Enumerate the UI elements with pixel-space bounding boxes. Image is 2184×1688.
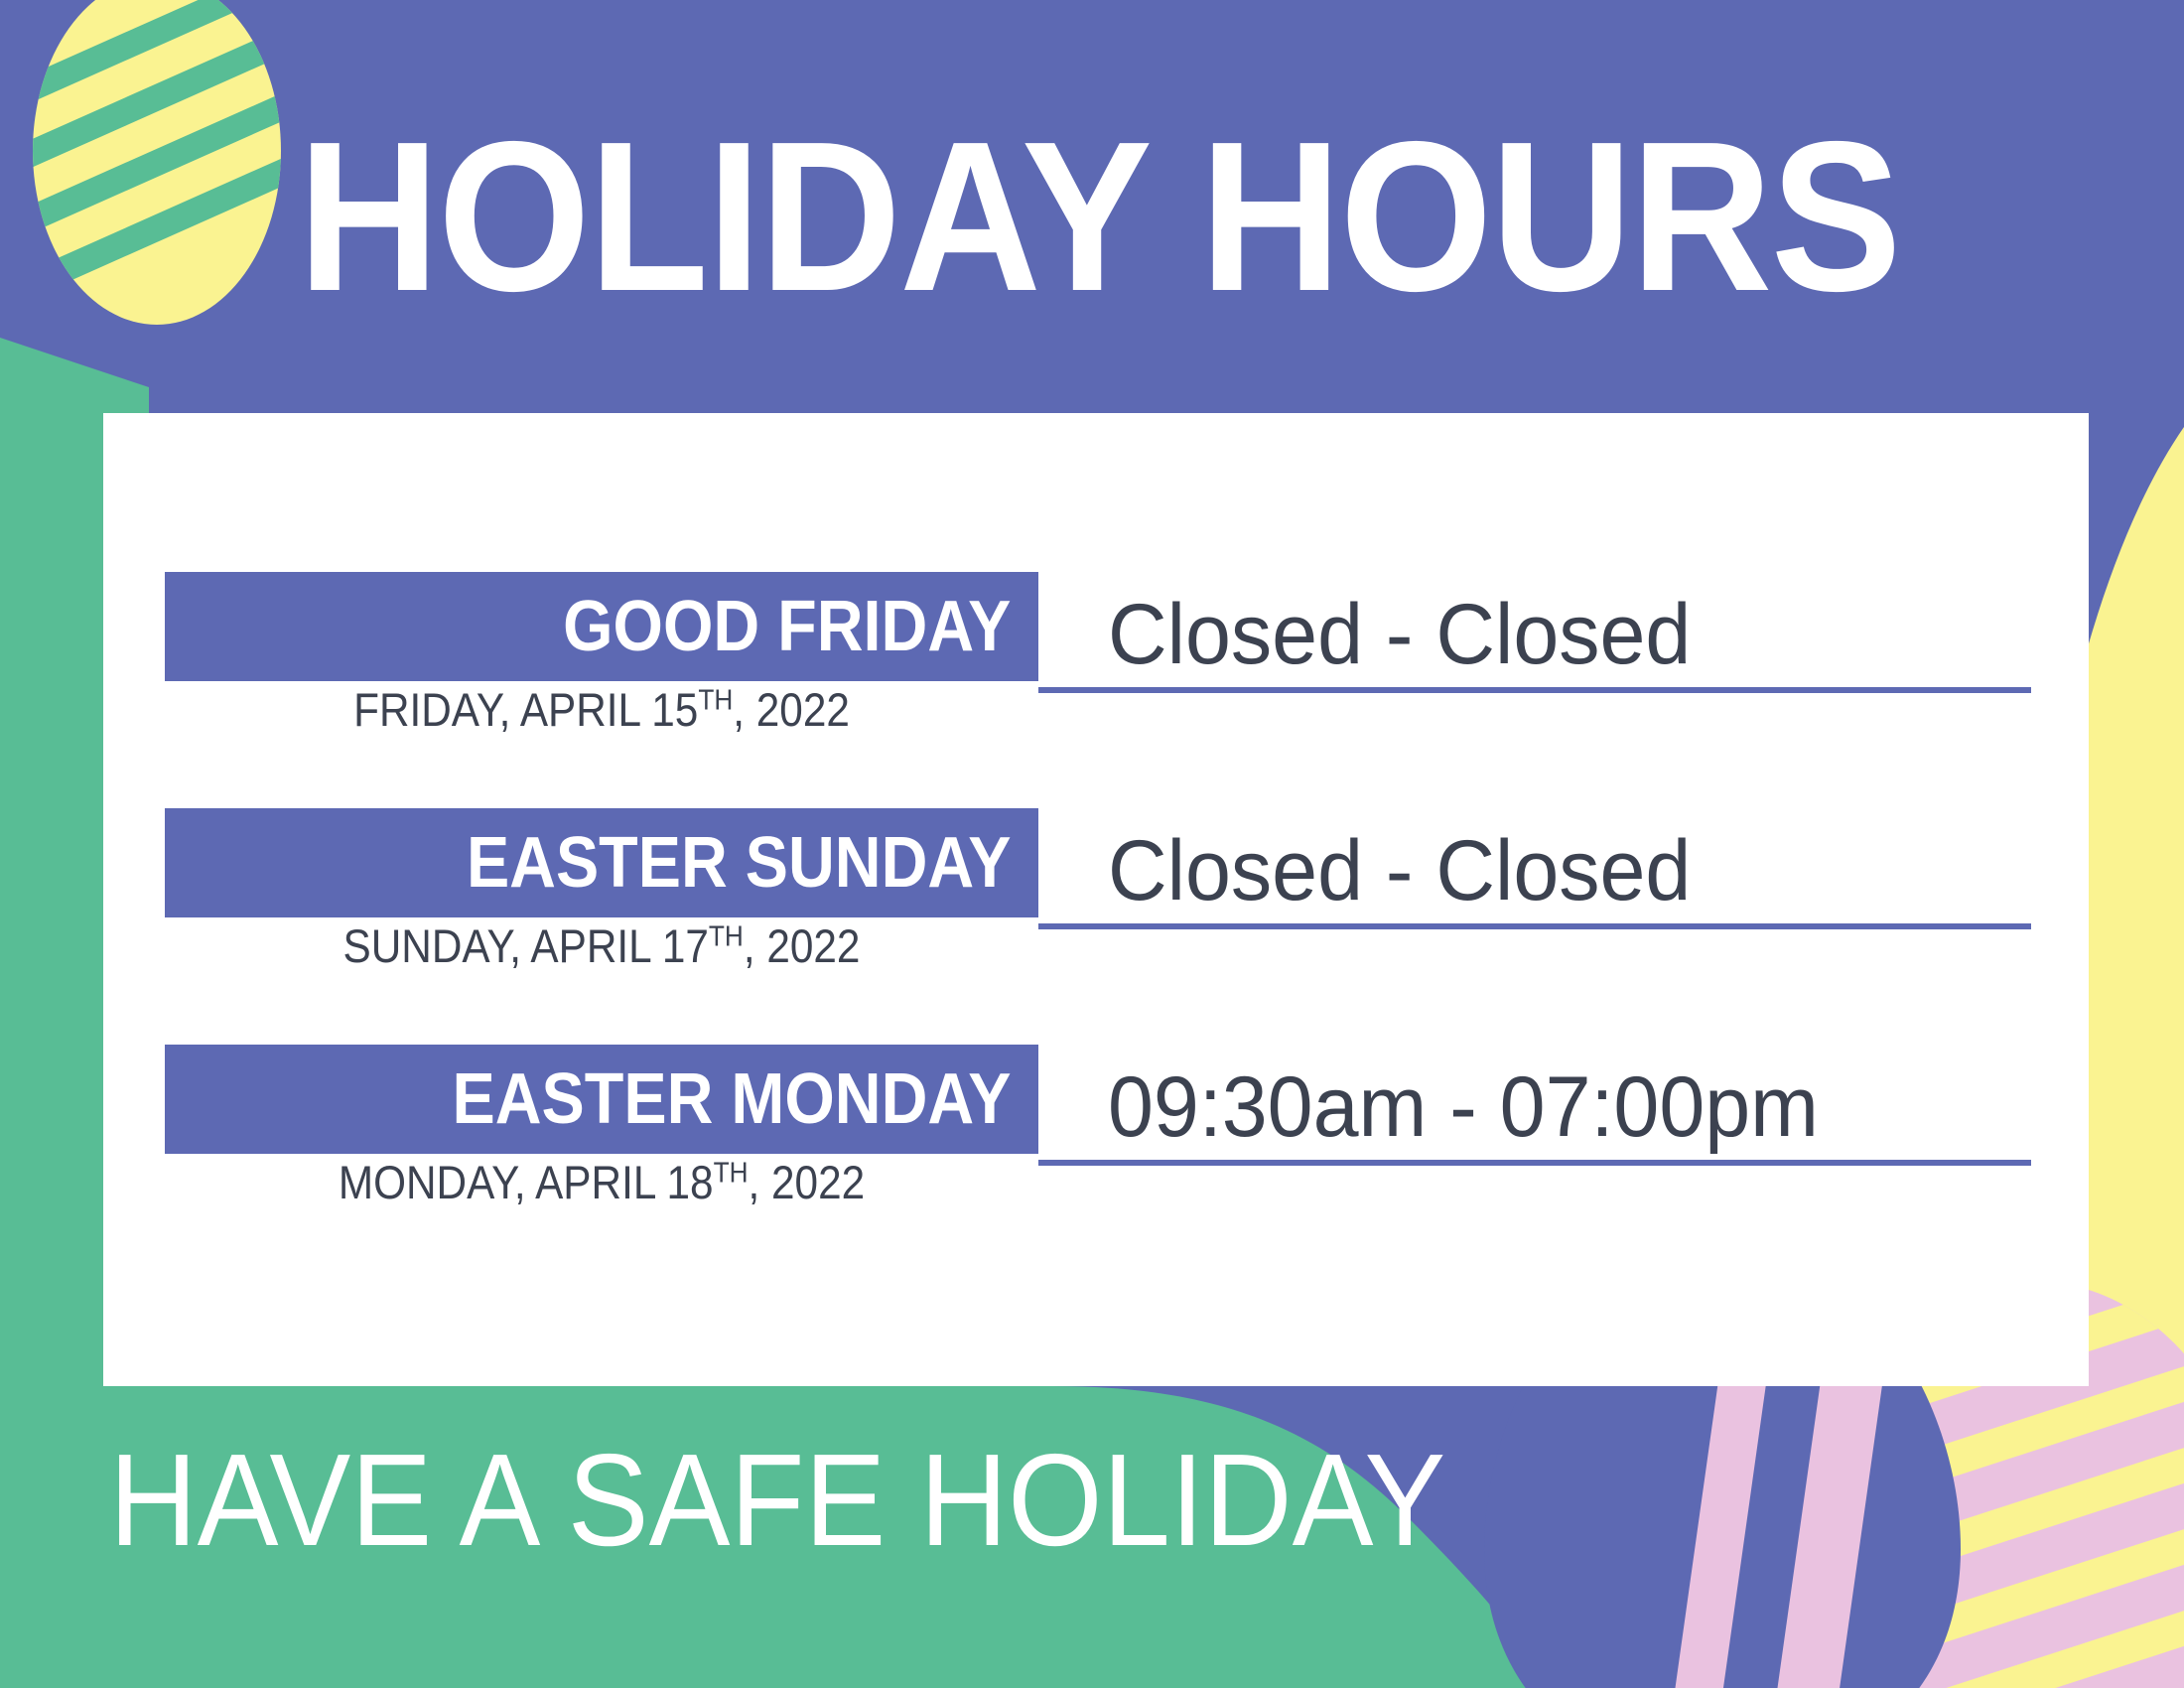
holiday-name-label: EASTER SUNDAY <box>466 827 1011 899</box>
holiday-hours-field: 09:30am - 07:00pm <box>1038 1045 2031 1166</box>
holiday-hours-value: Closed - Closed <box>1108 589 1691 681</box>
holiday-hours-value: 09:30am - 07:00pm <box>1108 1061 1819 1154</box>
table-row: EASTER SUNDAY SUNDAY, APRIL 17TH, 2022 C… <box>103 808 2089 1043</box>
holiday-name-badge: EASTER SUNDAY <box>165 808 1038 917</box>
holiday-hours-field: Closed - Closed <box>1038 572 2031 693</box>
holiday-date-suffix: , 2022 <box>733 683 850 736</box>
holiday-date: SUNDAY, APRIL 17TH, 2022 <box>208 919 995 973</box>
holiday-name-label: GOOD FRIDAY <box>563 591 1011 662</box>
holiday-date-prefix: MONDAY, APRIL 18 <box>339 1156 714 1208</box>
holiday-date-ordinal: TH <box>698 684 733 716</box>
holiday-hours-field: Closed - Closed <box>1038 808 2031 929</box>
holiday-hours-poster: HOLIDAY HOURS GOOD FRIDAY FRIDAY, APRIL … <box>0 0 2184 1688</box>
holiday-date-prefix: FRIDAY, APRIL 15 <box>353 683 698 736</box>
holiday-date-suffix: , 2022 <box>749 1156 866 1208</box>
page-title: HOLIDAY HOURS <box>298 109 1850 323</box>
table-row: EASTER MONDAY MONDAY, APRIL 18TH, 2022 0… <box>103 1045 2089 1279</box>
schedule-rows: GOOD FRIDAY FRIDAY, APRIL 15TH, 2022 Clo… <box>103 413 2089 1386</box>
holiday-date: MONDAY, APRIL 18TH, 2022 <box>208 1156 995 1209</box>
holiday-date-ordinal: TH <box>709 920 744 952</box>
holiday-name-badge: EASTER MONDAY <box>165 1045 1038 1154</box>
holiday-date: FRIDAY, APRIL 15TH, 2022 <box>208 683 995 737</box>
holiday-hours-value: Closed - Closed <box>1108 825 1691 917</box>
holiday-date-suffix: , 2022 <box>744 919 861 972</box>
table-row: GOOD FRIDAY FRIDAY, APRIL 15TH, 2022 Clo… <box>103 572 2089 806</box>
holiday-date-prefix: SUNDAY, APRIL 17 <box>343 919 709 972</box>
schedule-card: GOOD FRIDAY FRIDAY, APRIL 15TH, 2022 Clo… <box>103 413 2089 1386</box>
holiday-date-ordinal: TH <box>714 1157 749 1189</box>
holiday-name-badge: GOOD FRIDAY <box>165 572 1038 681</box>
holiday-name-label: EASTER MONDAY <box>452 1063 1011 1135</box>
footer-message: HAVE A SAFE HOLIDAY <box>109 1435 1445 1566</box>
